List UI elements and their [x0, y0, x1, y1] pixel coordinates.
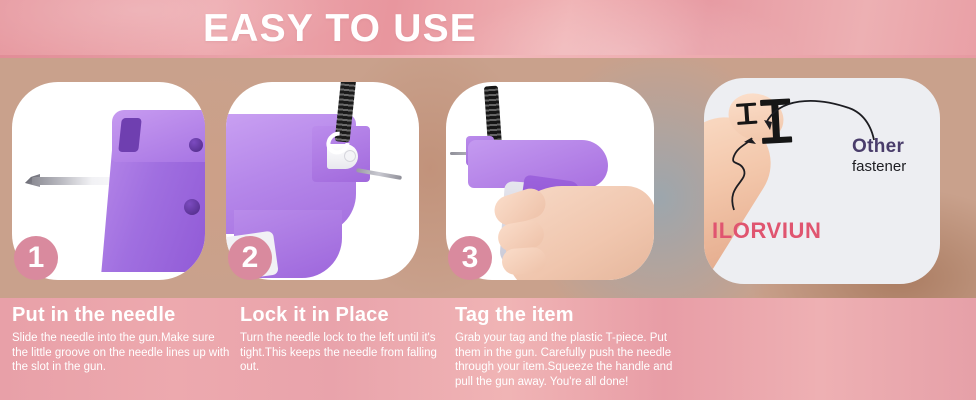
brand-label: ILORVIUN — [712, 218, 822, 244]
step-body-2: Turn the needle lock to the left until i… — [240, 331, 448, 375]
step-title-3: Tag the item — [455, 302, 685, 328]
fastener-comparison-card: Other fastener ILORVIUN — [704, 78, 940, 284]
other-fastener-label: Other — [852, 136, 904, 158]
step-badge-1: 1 — [14, 236, 58, 280]
finger-3 — [501, 246, 547, 275]
banner-header: EASY TO USE — [0, 0, 976, 58]
needle-lock-hole — [344, 150, 356, 162]
tpiece-bottom-bar — [762, 136, 792, 144]
page-title: EASY TO USE — [203, 7, 477, 51]
step-body-3: Grab your tag and the plastic T-piece. P… — [455, 331, 685, 389]
step-text-band: Put in the needle Slide the needle into … — [0, 298, 976, 400]
other-fastener-sublabel: fastener — [852, 158, 906, 175]
step-text-1: Put in the needle Slide the needle into … — [12, 302, 230, 375]
tagging-gun-screw-1 — [189, 138, 203, 152]
step-text-2: Lock it in Place Turn the needle lock to… — [240, 302, 448, 375]
step-badge-2: 2 — [228, 236, 272, 280]
tagging-gun-screw-2 — [184, 199, 200, 215]
tagging-gun-slot — [118, 118, 142, 152]
step-title-1: Put in the needle — [12, 302, 230, 328]
step-text-3: Tag the item Grab your tag and the plast… — [455, 302, 685, 389]
step-body-1: Slide the needle into the gun.Make sure … — [12, 331, 230, 375]
product-instruction-banner: EASY TO USE 1 2 — [0, 0, 976, 400]
step-badge-3: 3 — [448, 236, 492, 280]
step-title-2: Lock it in Place — [240, 302, 448, 328]
